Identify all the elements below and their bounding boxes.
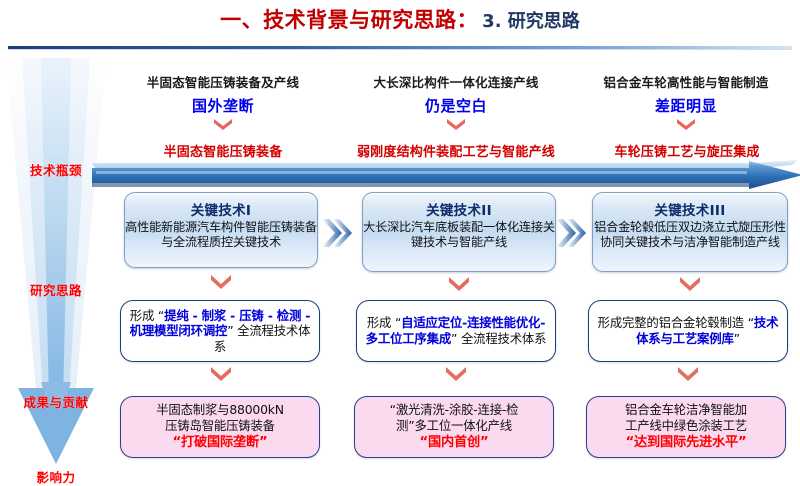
chevron-down-icon <box>447 276 471 292</box>
impact-box-3[interactable]: 铝合金车轮洁净智能加 工产线中绿色涂装工艺 “达到国际先进水平” <box>586 396 786 458</box>
band-label-1: 半固态智能压铸装备 <box>112 141 334 160</box>
column-3-topic: 铝合金车轮高性能与智能制造 <box>575 72 797 91</box>
key-technology-box-3[interactable]: 关键技术III 铝合金轮毂低压双边浇立式旋压形性协同关键技术与洁净智能制造产线 <box>592 192 788 272</box>
chevron-down-icon <box>212 117 234 130</box>
key-technology-1-body: 高性能新能源汽车构件智能压铸装备与全流程质控关键技术 <box>125 220 317 250</box>
chevron-down-icon <box>209 274 233 290</box>
impact-3-text: 铝合金车轮洁净智能加 工产线中绿色涂装工艺 “达到国际先进水平” <box>621 402 751 452</box>
column-header-3: 铝合金车轮高性能与智能制造 差距明显 <box>575 72 797 130</box>
column-2-topic: 大长深比构件一体化连接产线 <box>340 72 572 91</box>
impact-1-line1: 半固态制浆与88000kN <box>156 402 284 417</box>
chevron-down-icon <box>444 366 468 382</box>
outcome-2-prefix: 形成 “ <box>367 315 401 330</box>
title-main-text: 一、技术背景与研究思路： <box>220 8 478 32</box>
key-technology-box-2[interactable]: 关键技术II 大长深比汽车底板装配一体化连接关键技术与智能产线 <box>362 192 556 272</box>
key-technology-1-title: 关键技术I <box>125 199 317 219</box>
funnel-label-approach: 研究思路 <box>0 280 112 299</box>
chevron-down-icon <box>678 276 702 292</box>
key-technology-3-body: 铝合金轮毂低压双边浇立式旋压形性协同关键技术与洁净智能制造产线 <box>593 220 787 250</box>
band-label-2: 弱刚度结构件装配工艺与智能产线 <box>330 141 582 160</box>
arrow-bar-shape <box>92 160 800 192</box>
outcome-box-3[interactable]: 形成完整的铝合金轮毂制造 “技术体系与工艺案例库” <box>588 300 788 362</box>
column-1-topic: 半固态智能压铸装备及产线 <box>112 72 334 91</box>
process-arrow-bar <box>92 160 800 192</box>
impact-1-line2: 压铸岛智能压铸装备 <box>165 418 275 433</box>
title-divider-secondary <box>8 49 792 50</box>
impact-1-text: 半固态制浆与88000kN 压铸岛智能压铸装备 “打破国际垄断” <box>152 402 288 452</box>
impact-2-text: “激光清洗-涂胶-连接-检 测”多工位一体化产线 “国内首创” <box>386 402 523 452</box>
outcome-3-suffix: ” <box>734 331 740 346</box>
outcome-2-suffix: ” 全流程技术体系 <box>451 331 546 346</box>
impact-box-2[interactable]: “激光清洗-涂胶-连接-检 测”多工位一体化产线 “国内首创” <box>354 396 554 458</box>
outcome-1-prefix: 形成 “ <box>130 308 164 323</box>
impact-2-line2: 测”多工位一体化产线 <box>396 418 512 433</box>
outcome-2-text: 形成 “自适应定位-连接性能优化-多工位工序集成” 全流程技术体系 <box>357 315 555 346</box>
impact-2-quote: “国内首创” <box>420 435 489 450</box>
key-technology-2-body: 大长深比汽车底板装配一体化连接关键技术与智能产线 <box>363 220 555 250</box>
chevron-down-icon <box>445 117 467 130</box>
outcome-3-prefix: 形成完整的铝合金轮毂制造 “ <box>598 315 754 330</box>
band-label-3: 车轮压铸工艺与旋压集成 <box>578 141 796 160</box>
slide-root: 一、技术背景与研究思路：3. 研究思路 <box>0 0 800 470</box>
double-chevron-right-icon-2 <box>556 216 586 250</box>
impact-1-quote: “打破国际垄断” <box>173 435 268 450</box>
outcome-box-1[interactable]: 形成 “提纯 - 制浆 - 压铸 - 检测 - 机理模型闭环调控” 全流程技术体… <box>120 300 320 362</box>
outcome-1-suffix: ” 全流程技术体系 <box>214 323 310 354</box>
key-technology-2-title: 关键技术II <box>363 199 555 219</box>
chevron-down-icon <box>209 366 233 382</box>
outcome-1-text: 形成 “提纯 - 制浆 - 压铸 - 检测 - 机理模型闭环调控” 全流程技术体… <box>121 308 319 355</box>
column-1-status: 国外垄断 <box>112 95 334 116</box>
page-title: 一、技术背景与研究思路：3. 研究思路 <box>0 10 800 31</box>
chevron-down-icon <box>675 117 697 130</box>
double-chevron-right-icon-1 <box>322 216 352 250</box>
column-header-1: 半固态智能压铸装备及产线 国外垄断 <box>112 72 334 130</box>
chevron-down-icon <box>676 366 700 382</box>
column-header-2: 大长深比构件一体化连接产线 仍是空白 <box>340 72 572 130</box>
slide-title-bar: 一、技术背景与研究思路：3. 研究思路 <box>0 0 800 50</box>
outcome-box-2[interactable]: 形成 “自适应定位-连接性能优化-多工位工序集成” 全流程技术体系 <box>356 300 556 362</box>
impact-3-quote: “达到国际先进水平” <box>626 435 747 450</box>
progression-funnel: 技术瓶颈 研究思路 成果与贡献 影响力 <box>0 52 112 470</box>
title-sub-text: 3. 研究思路 <box>482 11 580 32</box>
column-2-status: 仍是空白 <box>340 95 572 116</box>
key-technology-box-1[interactable]: 关键技术I 高性能新能源汽车构件智能压铸装备与全流程质控关键技术 <box>124 192 318 268</box>
impact-3-line1: 铝合金车轮洁净智能加 <box>625 402 747 417</box>
column-3-status: 差距明显 <box>575 95 797 116</box>
funnel-label-outcomes: 成果与贡献 <box>0 392 112 411</box>
impact-box-1[interactable]: 半固态制浆与88000kN 压铸岛智能压铸装备 “打破国际垄断” <box>120 396 320 458</box>
key-technology-3-title: 关键技术III <box>593 199 787 219</box>
impact-3-line2: 工产线中绿色涂装工艺 <box>625 418 747 433</box>
impact-2-line1: “激光清洗-涂胶-连接-检 <box>390 402 519 417</box>
outcome-3-text: 形成完整的铝合金轮毂制造 “技术体系与工艺案例库” <box>589 315 787 346</box>
